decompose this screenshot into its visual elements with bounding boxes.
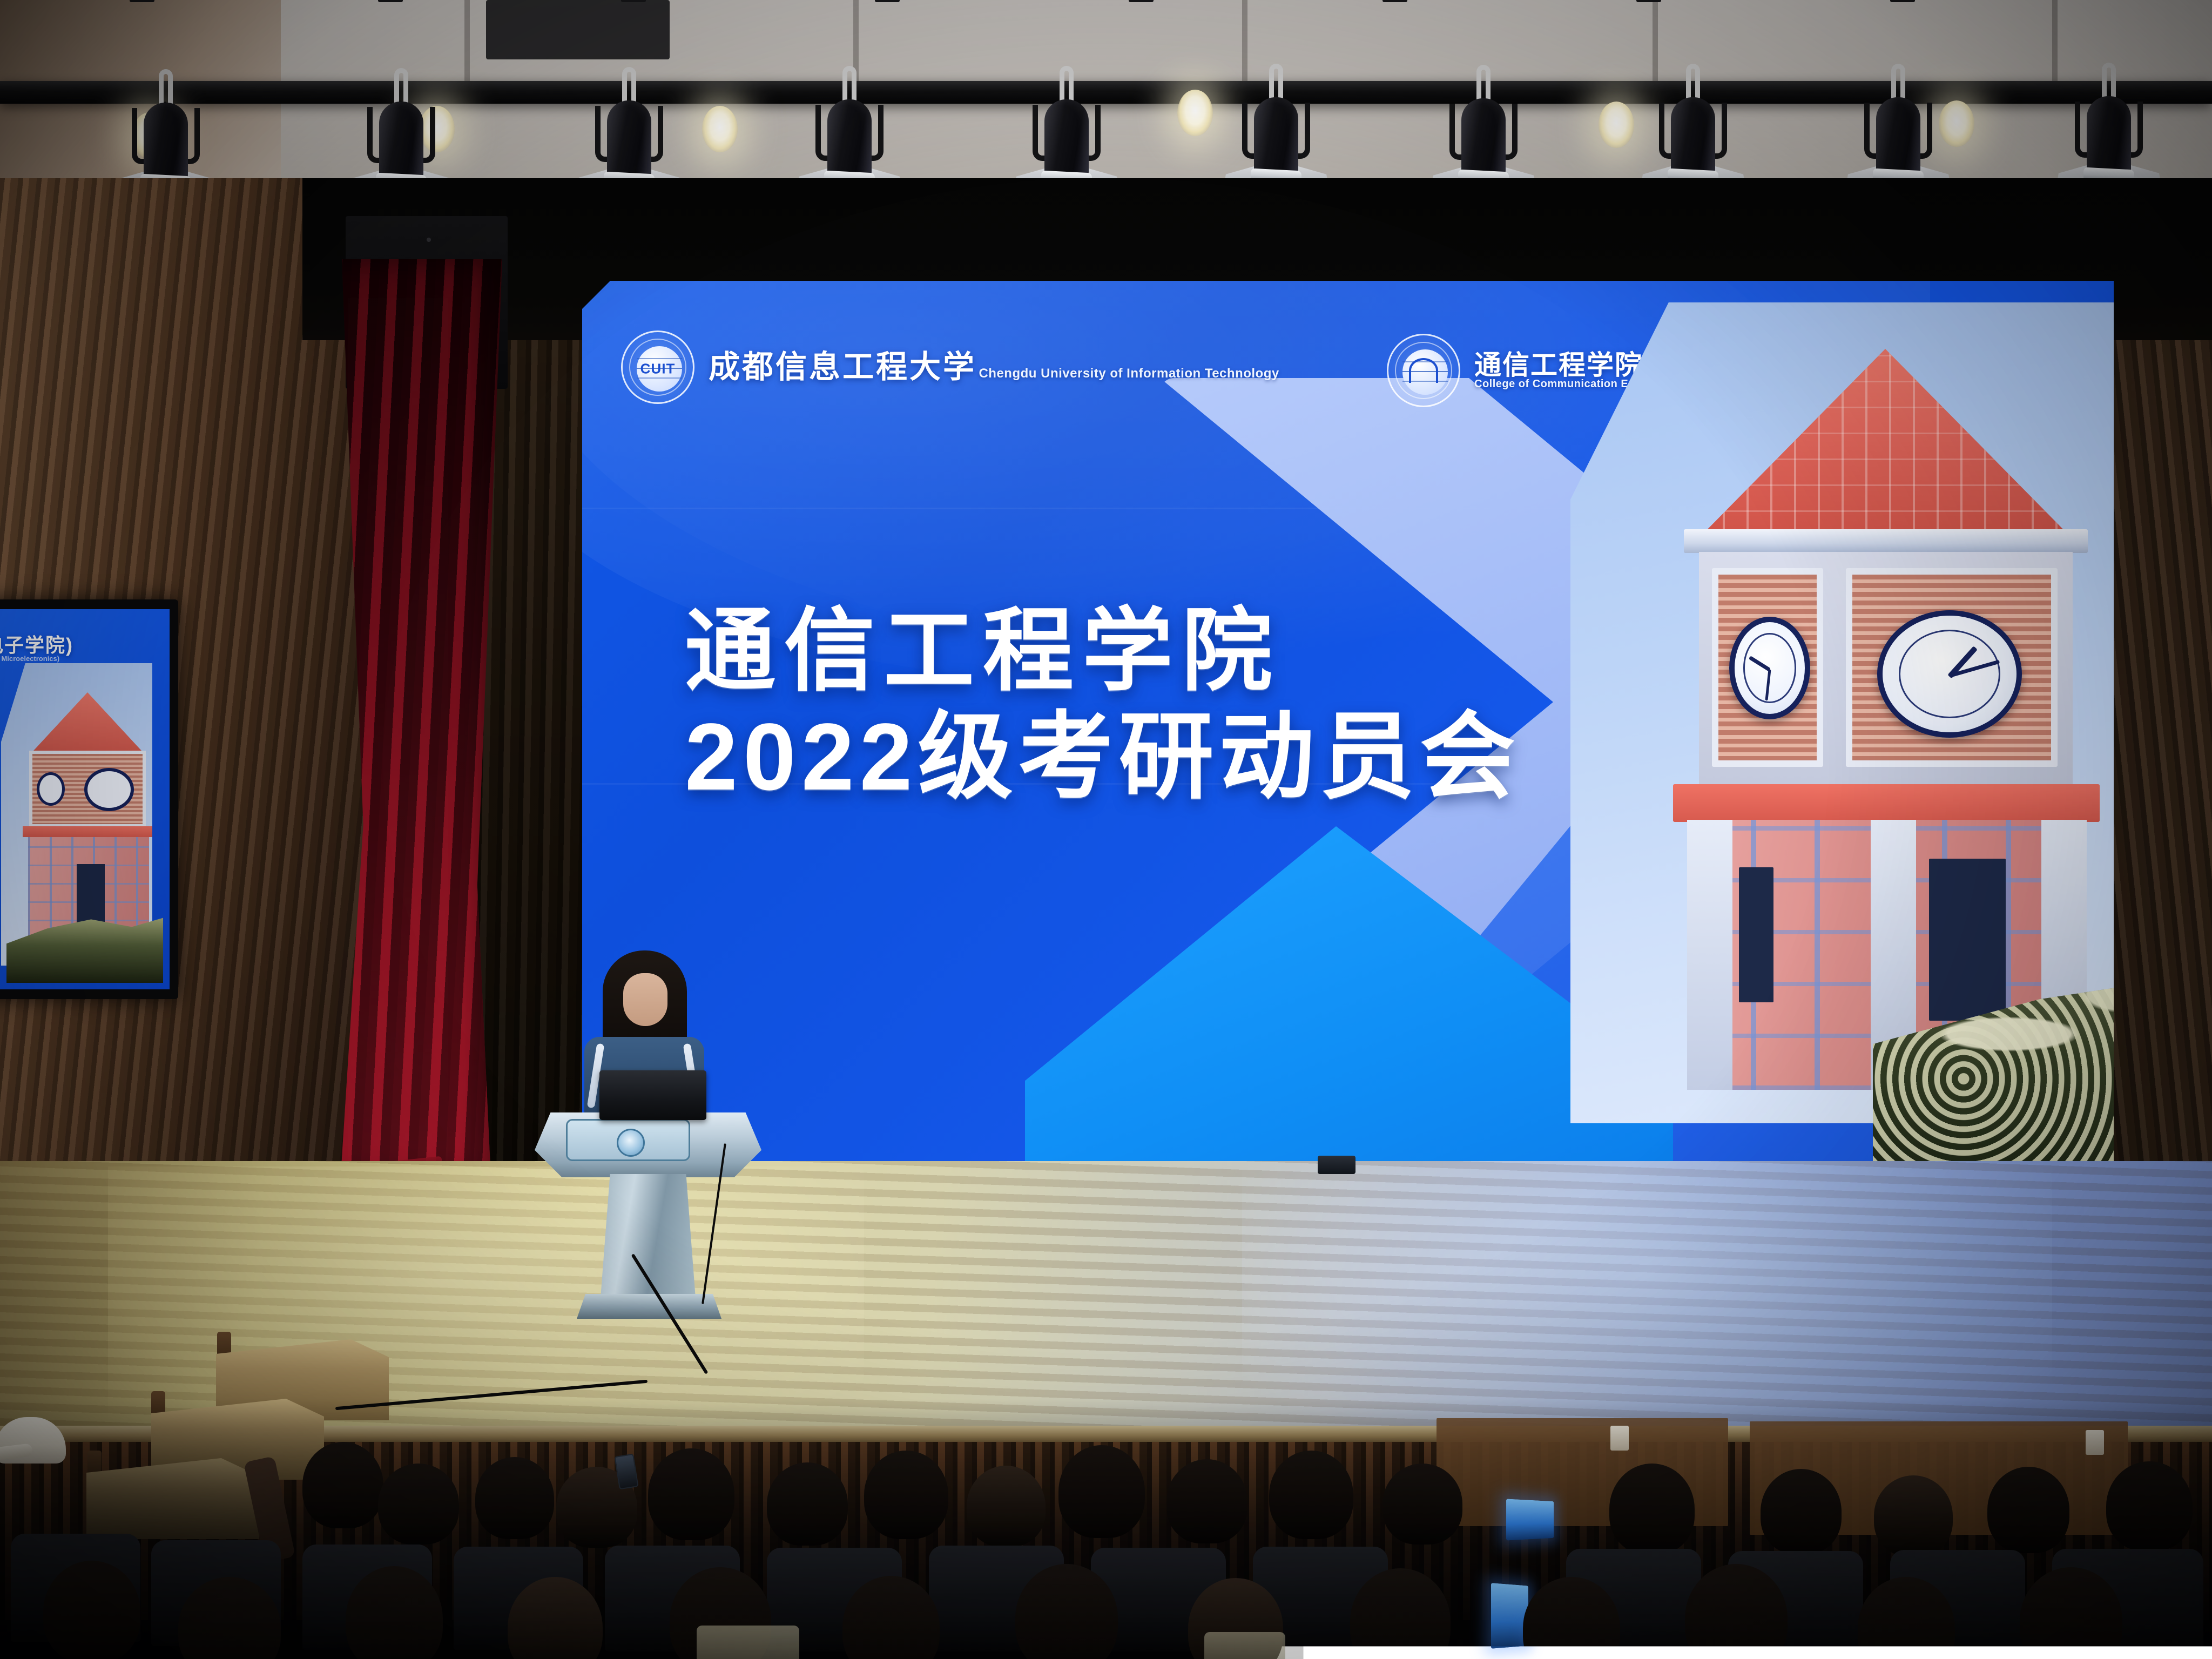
monitor-text-cn: 微电子学院) <box>0 630 73 658</box>
light-housing <box>1671 97 1715 178</box>
speaker-bolt <box>427 238 431 242</box>
audience-area <box>0 1399 2212 1659</box>
ceiling-seam <box>464 0 470 86</box>
auditorium-scene: CUIT 成都信息工程大学 Chengdu University of Info… <box>0 0 2212 1659</box>
cuit-seal-icon: CUIT <box>621 331 694 404</box>
ceiling-bulb <box>1599 102 1634 148</box>
monitor-text-en: College of Microelectronics) <box>0 655 59 663</box>
audience-cap <box>0 1417 66 1464</box>
floor-monitor-wedge <box>1318 1156 1355 1174</box>
audience-head <box>1987 1467 2069 1553</box>
light-housing <box>1044 99 1089 180</box>
audience-head <box>378 1464 459 1545</box>
seal-monogram: CUIT <box>640 360 676 377</box>
truss-clamp <box>1129 0 1154 2</box>
monitor-tower-belfry <box>29 751 146 827</box>
tower-cornice <box>1684 529 2088 553</box>
audience-head <box>475 1457 554 1539</box>
truss-clamp <box>1636 0 1661 2</box>
clock-tower-artwork <box>1570 302 2114 1123</box>
audience-head <box>1609 1464 1695 1554</box>
audience-laptop-screen <box>1506 1499 1554 1540</box>
wall-switch-plate <box>1610 1426 1629 1451</box>
truss-clamp <box>1382 0 1407 2</box>
lectern-base <box>577 1294 721 1319</box>
monitor-clock-tower <box>1 663 152 966</box>
audience-head <box>648 1448 734 1540</box>
light-housing <box>1254 97 1298 178</box>
presenter-face <box>623 973 667 1026</box>
monitor-tower-ledge <box>23 826 152 837</box>
light-housing <box>2087 96 2131 177</box>
monitor-clock-side <box>37 772 65 806</box>
left-wall-monitor[interactable]: 微电子学院) College of Microelectronics) <box>0 599 178 999</box>
truss-clamp <box>621 0 646 2</box>
monitor-tower-window <box>77 864 105 923</box>
ceiling-bulb <box>1177 90 1213 136</box>
light-clothing <box>697 1626 799 1659</box>
slide-headline: 通信工程学院 2022级考研动员会 <box>685 605 1603 806</box>
led-presentation-screen[interactable]: CUIT 成都信息工程大学 Chengdu University of Info… <box>582 281 2114 1161</box>
audience-head <box>1382 1464 1462 1545</box>
university-logo-text: 成都信息工程大学 Chengdu University of Informati… <box>709 352 1279 383</box>
slide-title-line-2: 2022级考研动员会 <box>685 709 1603 806</box>
signal-wave-icon <box>1409 358 1438 383</box>
light-housing <box>1876 97 1920 178</box>
university-logo: CUIT 成都信息工程大学 Chengdu University of Info… <box>621 331 1279 404</box>
truss-clamp <box>130 0 154 2</box>
lectern-emblem-icon <box>617 1129 645 1157</box>
tower-belfry <box>1699 552 2073 784</box>
audience-head <box>967 1466 1046 1547</box>
tower-ledge <box>1673 784 2100 822</box>
truss-clamp <box>1890 0 1915 2</box>
ceiling-bulb <box>702 106 738 152</box>
audience-head <box>43 1561 140 1659</box>
tower-window <box>1739 867 1773 1002</box>
light-housing <box>607 100 651 181</box>
clock-face-front <box>1877 610 2022 738</box>
light-housing <box>1461 98 1506 179</box>
audience-head <box>1874 1475 1953 1556</box>
truss-clamp <box>378 0 403 2</box>
light-housing <box>144 103 188 184</box>
clock-hour-hand <box>1749 656 1771 671</box>
clock-face-side <box>1729 617 1810 719</box>
wall-switch-plate <box>2086 1430 2104 1455</box>
audience-head <box>767 1462 848 1546</box>
light-housing <box>827 99 872 180</box>
audience-head <box>1269 1451 1353 1539</box>
audience-head <box>2106 1461 2193 1551</box>
monitor-clock-front <box>84 768 134 811</box>
truss-clamp <box>875 0 900 2</box>
ceiling-bulb <box>1939 100 1974 147</box>
light-clothing <box>1204 1632 1285 1659</box>
tower-pier <box>1687 820 1732 1090</box>
monitor-screen: 微电子学院) College of Microelectronics) <box>0 609 170 989</box>
laptop[interactable] <box>599 1070 706 1120</box>
college-seal-icon <box>1387 334 1460 407</box>
podium-group[interactable] <box>535 950 761 1328</box>
audience-head <box>864 1451 948 1539</box>
audience-head <box>1058 1445 1145 1538</box>
clock-minute-hand <box>1765 669 1771 700</box>
audience-head <box>1166 1459 1247 1543</box>
university-name-en: Chengdu University of Information Techno… <box>979 366 1279 381</box>
ceiling-vent <box>486 0 670 59</box>
light-housing <box>379 102 423 183</box>
university-name-cn: 成都信息工程大学 <box>709 349 976 385</box>
audience-head <box>1761 1469 1842 1554</box>
ceiling-seam <box>2052 0 2058 86</box>
audience-head <box>302 1442 383 1528</box>
slide-title-line-1: 通信工程学院 <box>685 605 1603 697</box>
tower-window <box>1929 859 2006 1021</box>
